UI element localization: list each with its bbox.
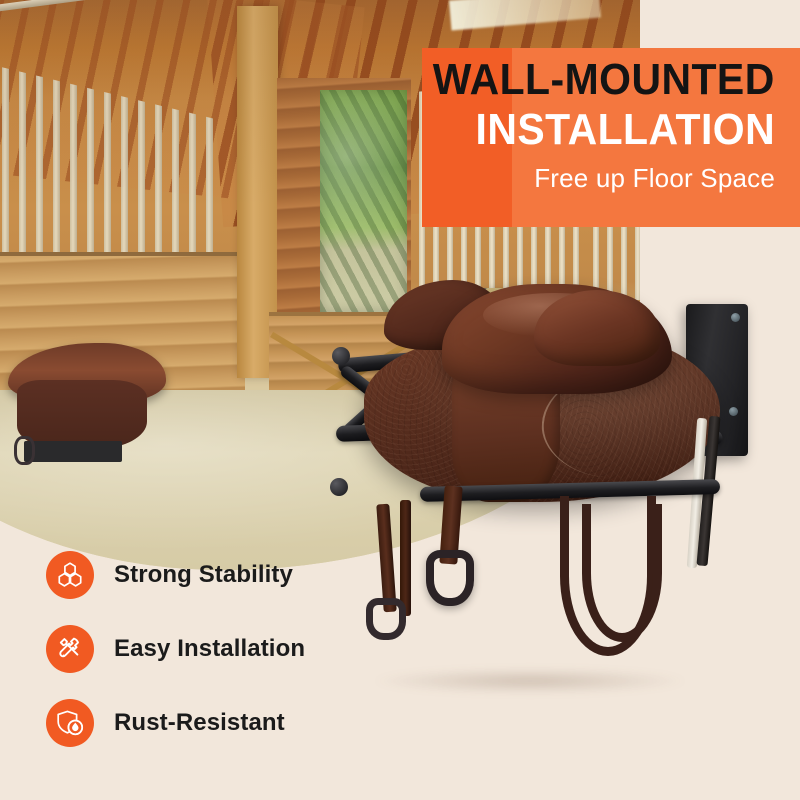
rack-end-cap	[332, 347, 350, 365]
headline-banner-content: WALL-MOUNTED INSTALLATION Free up Floor …	[422, 48, 800, 227]
feature-item-strong-stability: Strong Stability	[46, 538, 305, 612]
headline-line-2: INSTALLATION	[475, 107, 775, 153]
product-marketing-image: WALL-MOUNTED INSTALLATION Free up Floor …	[0, 0, 800, 800]
feature-label: Easy Installation	[114, 635, 305, 663]
hero-product-saddle-rack	[330, 268, 760, 688]
feature-label: Strong Stability	[114, 561, 293, 589]
feature-label: Rust-Resistant	[114, 709, 285, 737]
stirrup-leather	[400, 500, 411, 616]
feature-list: Strong Stability Easy Installation	[46, 538, 305, 760]
headline-line-1: WALL-MOUNTED	[433, 58, 775, 103]
mounting-screw-icon	[731, 313, 740, 322]
saddle-leather-loop	[582, 504, 662, 642]
feature-item-easy-installation: Easy Installation	[46, 612, 305, 686]
stirrup-iron	[366, 598, 406, 640]
product-drop-shadow	[370, 668, 690, 694]
headline-subtitle: Free up Floor Space	[534, 163, 775, 194]
feature-item-rust-resistant: Rust-Resistant	[46, 686, 305, 760]
headline-banner: WALL-MOUNTED INSTALLATION Free up Floor …	[422, 48, 800, 227]
shield-water-drop-icon	[46, 699, 94, 747]
wrench-screwdriver-icon	[46, 625, 94, 673]
stirrup-iron	[426, 550, 474, 606]
mounting-screw-icon	[729, 407, 738, 416]
rack-end-cap	[330, 478, 348, 496]
honeycomb-hexagons-icon	[46, 551, 94, 599]
